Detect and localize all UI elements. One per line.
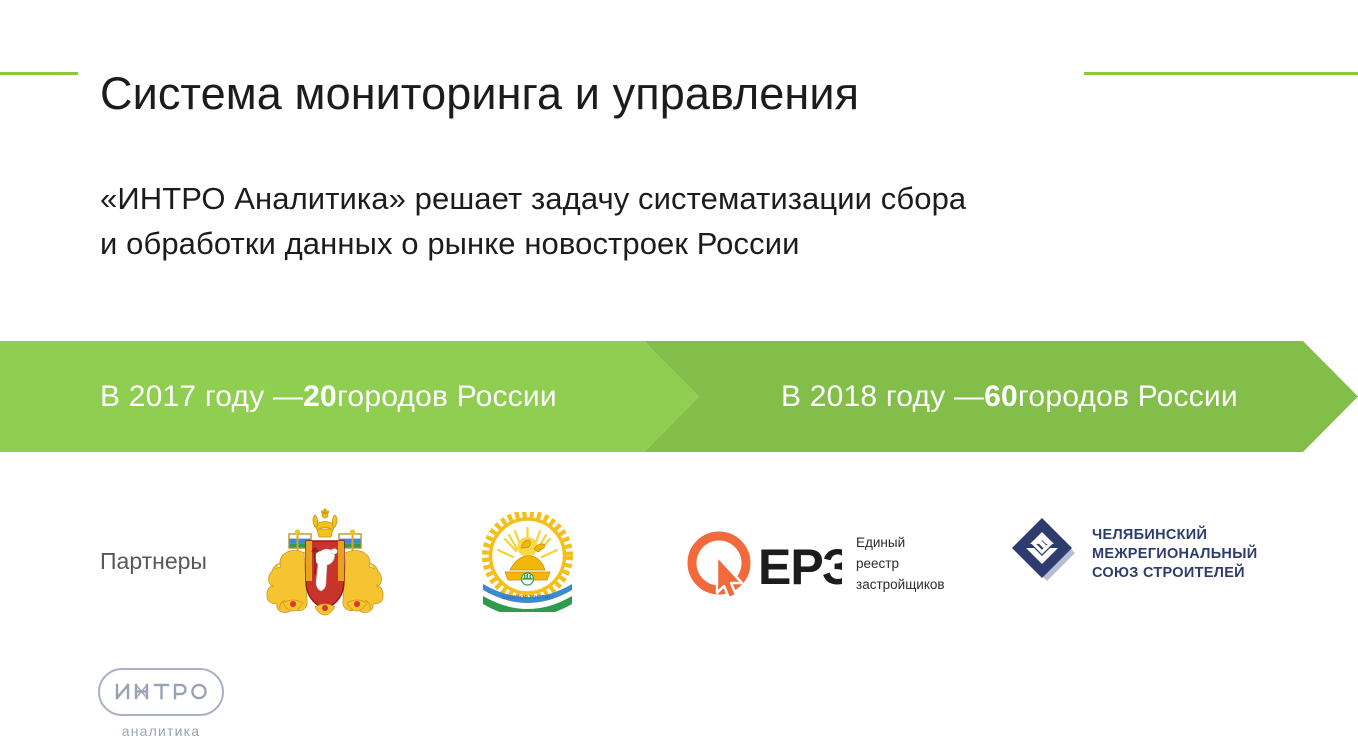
erz-wordmark-icon: ЕРЗ [686,527,842,599]
chelyabinsk-subtitle: ЧЕЛЯБИНСКИЙ МЕЖРЕГИОНАЛЬНЫЙ СОЮЗ СТРОИТЕ… [1092,526,1257,583]
slide-root: Система мониторинга и управления «ИНТРО … [0,0,1358,756]
title-rule-right [1084,72,1358,75]
lead-line-1: «ИНТРО Аналитика» решает задачу системат… [100,176,1220,221]
title-rule-left [0,72,78,75]
bashkortostan-coat-of-arms-icon: БАШҠОРТОСТАН [477,512,578,612]
erz-sub-line-1: Единый [856,532,945,553]
svg-text:БАШҠОРТОСТАН: БАШҠОРТОСТАН [502,595,554,601]
erz-sub-line-3: застройщиков [856,574,945,595]
erz-logo: ЕРЗ Единый реестр застройщиков [686,527,945,599]
intro-analytics-logo: аналитика [98,668,224,739]
lead-line-2: и обработки данных о рынке новостроек Ро… [100,221,1220,266]
partners-label: Партнеры [100,548,207,575]
chelyabinsk-union-logo: ЧЕЛЯБИНСКИЙ МЕЖРЕГИОНАЛЬНЫЙ СОЮЗ СТРОИТЕ… [1012,518,1257,590]
cities-banner: В 2017 году — 20 городов России В 2018 г… [0,341,1358,452]
chelyabinsk-emblem-icon [1012,518,1078,590]
chelyabinsk-line-2: МЕЖРЕГИОНАЛЬНЫЙ [1092,545,1257,564]
banner-segment-2018-shape [644,341,1358,452]
lead-paragraph: «ИНТРО Аналитика» решает задачу системат… [100,176,1220,266]
chelyabinsk-line-1: ЧЕЛЯБИНСКИЙ [1092,526,1257,545]
banner-segment-2017-shape [0,341,699,452]
sverdlovsk-oblast-coat-of-arms-icon [265,503,385,621]
intro-caption: аналитика [98,723,224,739]
erz-subtitle: Единый реестр застройщиков [856,532,945,595]
intro-wordmark-icon [98,668,224,716]
chelyabinsk-line-3: СОЮЗ СТРОИТЕЛЕЙ [1092,564,1257,583]
erz-sub-line-2: реестр [856,553,945,574]
svg-text:ЕРЗ: ЕРЗ [758,539,842,595]
page-title: Система мониторинга и управления [100,68,859,120]
